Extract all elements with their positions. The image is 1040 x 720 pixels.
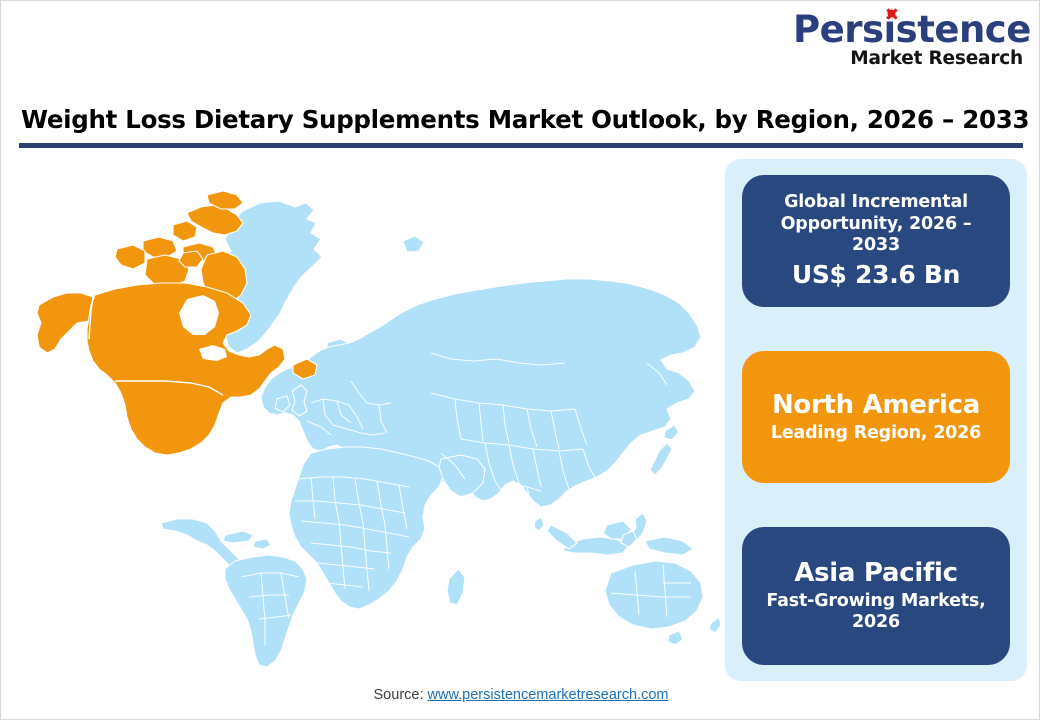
card-headline-leading-region: North America: [772, 390, 980, 421]
map-island-axel-heiberg: [173, 221, 197, 241]
map-island-melville: [143, 237, 177, 257]
map-island-hokkaido: [664, 425, 679, 440]
map-country-new-zealand: [709, 617, 721, 633]
map-island-new-guinea: [645, 537, 693, 555]
map-country-australia: [605, 561, 703, 629]
source-label: Source:: [374, 687, 428, 703]
map-island-banks: [115, 245, 145, 269]
card-leading-region[interactable]: North America Leading Region, 2026: [742, 351, 1010, 483]
map-island-prince-of-wales: [179, 251, 203, 267]
map-region-south-america: [225, 555, 307, 667]
card-sub-leading-region: Leading Region, 2026: [771, 423, 981, 444]
source-line: Source: www.persistencemarketresearch.co…: [1, 687, 1040, 703]
logo-wordmark-text: Persistence: [793, 8, 1031, 51]
map-region-africa: [289, 447, 443, 609]
map-island-svalbard: [403, 236, 424, 252]
card-value-opportunity: US$ 23.6 Bn: [792, 260, 960, 290]
title-underline-rule: [19, 143, 1023, 148]
card-label-opportunity: Global Incremental Opportunity, 2026 – 2…: [754, 192, 998, 256]
world-map: [11, 153, 721, 673]
map-country-madagascar: [447, 569, 465, 605]
card-fast-growing-market[interactable]: Asia Pacific Fast-Growing Markets, 2026: [742, 527, 1010, 665]
card-sub-fast-growing: Fast-Growing Markets, 2026: [754, 591, 998, 634]
highlights-panel: Global Incremental Opportunity, 2026 – 2…: [725, 159, 1027, 681]
map-island-sumatra: [547, 525, 577, 549]
page-title: Weight Loss Dietary Supplements Market O…: [21, 105, 1021, 134]
logo-tagline: Market Research: [793, 50, 1023, 69]
map-country-japan: [650, 443, 672, 475]
world-map-svg: [11, 153, 721, 673]
card-global-incremental-opportunity[interactable]: Global Incremental Opportunity, 2026 – 2…: [742, 175, 1010, 307]
source-link[interactable]: www.persistencemarketresearch.com: [428, 687, 669, 703]
logo-starburst-icon: [886, 8, 897, 19]
map-island-cuba: [223, 531, 253, 543]
card-headline-fast-growing: Asia Pacific: [794, 558, 957, 589]
map-country-sri-lanka: [534, 517, 544, 531]
company-logo: Persistence Market Research: [793, 11, 1023, 83]
map-island-hispaniola: [253, 539, 271, 549]
infographic-page: Persistence Market Research Weight Loss …: [0, 0, 1040, 720]
map-island-tasmania: [668, 631, 683, 645]
map-region-central-america: [161, 519, 243, 571]
logo-wordmark: Persistence: [793, 11, 1031, 48]
